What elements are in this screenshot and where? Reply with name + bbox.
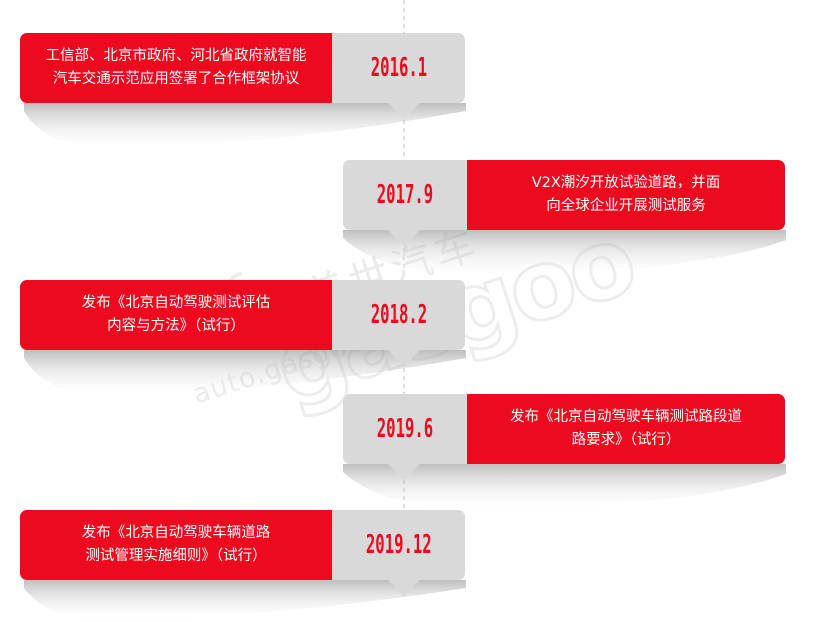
event-date-box: 2016.1	[332, 33, 465, 103]
timeline-row: 2017.9 V2X潮汐开放试验道路，并面 向全球企业开展测试服务	[0, 160, 823, 230]
event-date-label: 2018.2	[370, 300, 426, 330]
event-date-label: 2016.1	[370, 53, 426, 83]
event-text-box: V2X潮汐开放试验道路，并面 向全球企业开展测试服务	[467, 160, 785, 230]
timeline-row: 工信部、北京市政府、河北省政府就智能 汽车交通示范应用签署了合作框架协议 201…	[0, 33, 823, 103]
event-text-line: 测试管理实施细则》（试行）	[85, 548, 266, 564]
event-text-line: 发布《北京自动驾驶车辆道路	[82, 525, 271, 541]
event-text-line: V2X潮汐开放试验道路，并面	[532, 175, 721, 191]
event-text-box: 发布《北京自动驾驶车辆测试路段道 路要求》（试行）	[467, 394, 785, 464]
timeline-row: 发布《北京自动驾驶车辆道路 测试管理实施细则》（试行） 2019.12	[0, 510, 823, 580]
axis-notch-icon	[387, 463, 421, 480]
event-text-line: 工信部、北京市政府、河北省政府就智能	[46, 48, 307, 64]
event-date-box: 2017.9	[343, 160, 467, 230]
axis-notch-icon	[387, 349, 421, 366]
event-text-line: 发布《北京自动驾驶测试评估	[82, 295, 271, 311]
event-text-line: 向全球企业开展测试服务	[546, 198, 706, 214]
event-date-label: 2017.9	[377, 180, 433, 210]
axis-notch-icon	[387, 579, 421, 596]
timeline-infographic: 盖世汽车 gasgoo auto.gasgoo.com 工信部、北京市政府、河北…	[0, 0, 823, 599]
event-text-line: 内容与方法》（试行）	[107, 318, 245, 334]
event-text-box: 发布《北京自动驾驶测试评估 内容与方法》（试行）	[20, 280, 332, 350]
event-text-box: 发布《北京自动驾驶车辆道路 测试管理实施细则》（试行）	[20, 510, 332, 580]
timeline-row: 2019.6 发布《北京自动驾驶车辆测试路段道 路要求》（试行）	[0, 394, 823, 464]
event-text-line: 发布《北京自动驾驶车辆测试路段道	[510, 409, 742, 425]
event-date-box: 2018.2	[332, 280, 465, 350]
event-text-line: 路要求》（试行）	[572, 432, 681, 448]
event-date-box: 2019.12	[332, 510, 465, 580]
axis-notch-icon	[387, 102, 421, 119]
timeline-row: 发布《北京自动驾驶测试评估 内容与方法》（试行） 2018.2	[0, 280, 823, 350]
event-text-box: 工信部、北京市政府、河北省政府就智能 汽车交通示范应用签署了合作框架协议	[20, 33, 332, 103]
event-date-label: 2019.12	[366, 530, 432, 560]
event-date-box: 2019.6	[343, 394, 467, 464]
axis-notch-icon	[387, 229, 421, 246]
event-date-label: 2019.6	[377, 414, 433, 444]
event-text-line: 汽车交通示范应用签署了合作框架协议	[53, 71, 300, 87]
